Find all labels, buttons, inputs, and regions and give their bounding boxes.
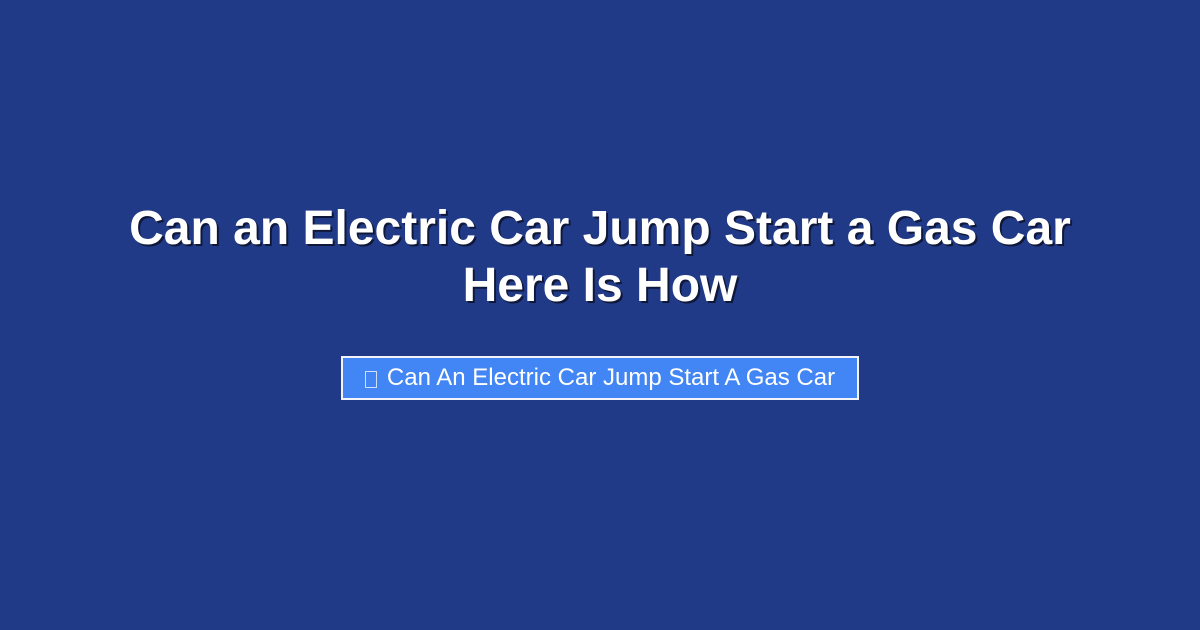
missing-glyph-tofu-icon <box>365 371 377 388</box>
cta-container: Can An Electric Car Jump Start A Gas Car <box>0 356 1200 400</box>
page-title: Can an Electric Car Jump Start a Gas Car… <box>70 200 1130 314</box>
cta-button[interactable]: Can An Electric Car Jump Start A Gas Car <box>341 356 859 400</box>
share-card-canvas: Can an Electric Car Jump Start a Gas Car… <box>0 0 1200 630</box>
cta-button-label: Can An Electric Car Jump Start A Gas Car <box>387 364 835 392</box>
